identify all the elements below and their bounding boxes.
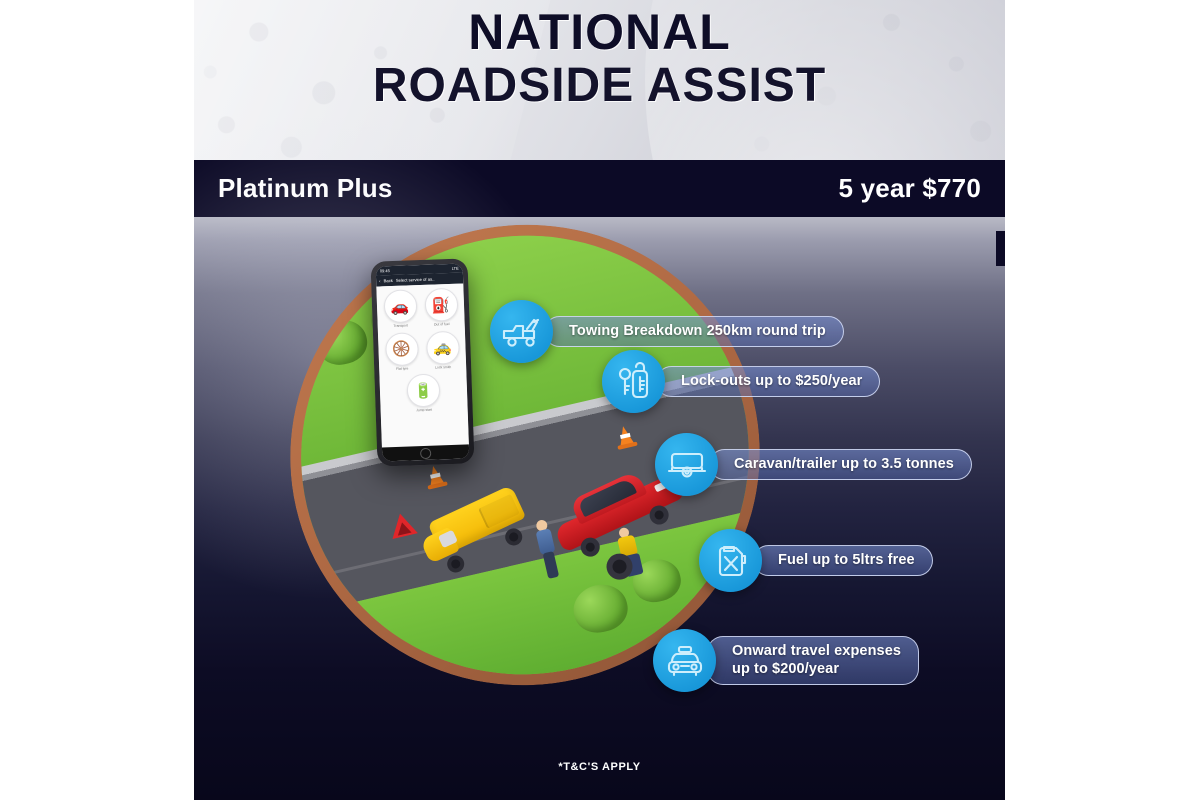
towing-tile[interactable]: 🚗Transport bbox=[381, 289, 418, 329]
tile-label: Flat tyre bbox=[396, 367, 408, 371]
feature-label: Towing Breakdown 250km round trip bbox=[544, 316, 844, 347]
taxi-car-icon bbox=[653, 629, 716, 692]
feature-caravan: Caravan/trailer up to 3.5 tonnes bbox=[655, 433, 972, 496]
tile-label: Lock smith bbox=[435, 366, 451, 370]
keys-icon bbox=[602, 350, 665, 413]
battery-icon: 🔋 bbox=[406, 374, 440, 408]
tow-truck-icon bbox=[490, 300, 553, 363]
fuel-can-icon bbox=[699, 529, 762, 592]
status-battery: LTE bbox=[452, 266, 459, 271]
title-line-1: NATIONAL bbox=[194, 6, 1005, 59]
lockout-icon: 🚕 bbox=[425, 330, 459, 364]
back-label[interactable]: Back bbox=[383, 278, 392, 283]
smartphone-mockup: 09:45 LTE ‹ Back Select service of as.. … bbox=[370, 258, 474, 466]
fuel-tile[interactable]: ⛽Out of fuel bbox=[422, 288, 459, 328]
home-button[interactable] bbox=[420, 447, 431, 458]
back-chevron-icon[interactable]: ‹ bbox=[379, 278, 381, 283]
phone-service-grid: 🚗Transport⛽Out of fuel🛞Flat tyre🚕Lock sm… bbox=[376, 284, 469, 448]
terms-footnote: *T&C'S APPLY bbox=[194, 761, 1005, 773]
lockout-tile[interactable]: 🚕Lock smith bbox=[424, 330, 461, 370]
battery-tile[interactable]: 🔋Jump start bbox=[405, 374, 442, 414]
infographic-poster: NATIONAL ROADSIDE ASSIST Platinum Plus 5… bbox=[0, 0, 1200, 800]
towing-icon: 🚗 bbox=[383, 289, 417, 323]
flat-tyre-tile[interactable]: 🛞Flat tyre bbox=[383, 332, 420, 372]
fuel-icon: ⛽ bbox=[424, 288, 458, 322]
feature-label: Lock-outs up to $250/year bbox=[656, 366, 880, 397]
feature-label: Onward travel expenses up to $200/year bbox=[707, 636, 919, 684]
feature-lockouts: Lock-outs up to $250/year bbox=[602, 350, 880, 413]
artwork-canvas: NATIONAL ROADSIDE ASSIST Platinum Plus 5… bbox=[194, 0, 1005, 800]
tile-label: Jump start bbox=[416, 409, 432, 413]
flat-tyre-icon: 🛞 bbox=[384, 332, 418, 366]
tile-label: Transport bbox=[393, 324, 408, 328]
person-legs bbox=[543, 551, 560, 579]
status-badge: Australia wide bbox=[996, 231, 1005, 266]
feature-fuel: Fuel up to 5ltrs free bbox=[699, 529, 933, 592]
tile-label: Out of fuel bbox=[434, 323, 450, 327]
plan-price: 5 year $770 bbox=[839, 173, 981, 204]
phone-screen: 09:45 LTE ‹ Back Select service of as.. … bbox=[376, 264, 470, 462]
phone-home-bar bbox=[382, 444, 469, 461]
feature-label: Caravan/trailer up to 3.5 tonnes bbox=[709, 449, 972, 480]
phone-nav-title: Select service of as.. bbox=[396, 277, 435, 283]
caravan-trailer-icon bbox=[655, 433, 718, 496]
feature-label: Fuel up to 5ltrs free bbox=[753, 545, 933, 576]
feature-onward-travel: Onward travel expenses up to $200/year bbox=[653, 629, 919, 692]
status-time: 09:45 bbox=[380, 268, 390, 273]
